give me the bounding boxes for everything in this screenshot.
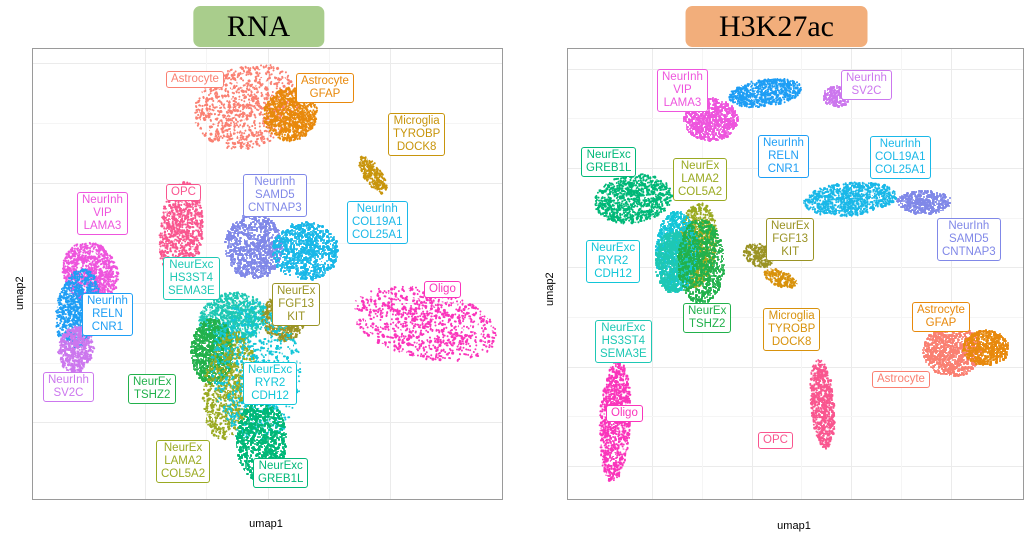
cluster-label-line: NeurInh: [846, 72, 887, 85]
cluster-label-line: NeurInh: [82, 194, 123, 207]
cluster-label-line: NeurExc: [248, 364, 292, 377]
cluster-label-neurexc-ryr2-cdh12: NeurExcRYR2CDH12: [243, 362, 297, 405]
cluster-label-line: SAMD5: [248, 189, 302, 202]
cluster-points: [270, 220, 338, 280]
cluster-label-neurexc-hs3st4-sema3e: NeurExcHS3ST4SEMA3E: [595, 320, 652, 363]
cluster-label-line: TYROBP: [393, 128, 440, 141]
cluster-label-line: COL25A1: [352, 229, 403, 242]
cluster-points: [800, 177, 899, 219]
gridline-h: [568, 69, 1023, 70]
cluster-label-line: NeurEx: [133, 376, 171, 389]
cluster-label-neurinh-sv2c: NeurInhSV2C: [43, 372, 94, 402]
gridline-v: [652, 49, 653, 499]
cluster-label-line: LAMA2: [161, 455, 205, 468]
cluster-label-line: RELN: [87, 308, 128, 321]
gridline-v: [951, 49, 952, 499]
cluster-label-line: Astrocyte: [171, 73, 219, 86]
cluster-label-line: COL5A2: [161, 468, 205, 481]
cluster-label-neurinh-samd5-cntnap3: NeurInhSAMD5CNTNAP3: [937, 218, 1001, 261]
cluster-label-line: NeurInh: [763, 137, 804, 150]
cluster-label-line: SEMA3E: [168, 285, 215, 298]
cluster-label-line: CNR1: [763, 163, 804, 176]
cluster-points: [676, 217, 724, 305]
cluster-label-line: TSHZ2: [133, 389, 171, 402]
cluster-label-line: RYR2: [591, 255, 635, 268]
cluster-label-neurinh-col19a1-col25a1: NeurInhCOL19A1COL25A1: [347, 201, 408, 244]
cluster-label-line: TYROBP: [768, 323, 815, 336]
cluster-label-line: FGF13: [771, 233, 809, 246]
cluster-label-line: CDH12: [248, 390, 292, 403]
cluster-label-line: FGF13: [277, 298, 315, 311]
cluster-label-neurinh-reln-cnr1: NeurInhRELNCNR1: [82, 293, 133, 336]
cluster-label-opc: OPC: [166, 184, 201, 201]
cluster-label-neurexc-greb1l: NeurExcGREB1L: [581, 147, 636, 177]
cluster-label-line: CDH12: [591, 268, 635, 281]
cluster-label-line: NeurInh: [942, 220, 996, 233]
x-axis-title-h3k27ac: umap1: [777, 520, 811, 532]
cluster-label-neurex-fgf13-kit: NeurExFGF13KIT: [766, 218, 814, 261]
cluster-label-line: COL5A2: [678, 186, 722, 199]
cluster-label-microglia-tyrobp-dock8: MicrogliaTYROBPDOCK8: [388, 113, 445, 156]
cluster-label-oligo: Oligo: [606, 405, 643, 422]
cluster-label-line: SV2C: [48, 387, 89, 400]
cluster-label-line: CNTNAP3: [248, 202, 302, 215]
cluster-label-neurex-lama2-col5a2: NeurExLAMA2COL5A2: [673, 158, 727, 201]
cluster-label-neurinh-vip-lama3: NeurInhVIPLAMA3: [657, 69, 708, 112]
cluster-label-line: OPC: [171, 186, 196, 199]
cluster-label-neurexc-hs3st4-sema3e: NeurExcHS3ST4SEMA3E: [163, 257, 220, 300]
cluster-label-line: LAMA3: [82, 220, 123, 233]
cluster-label-astrocyte-gfap: AstrocyteGFAP: [912, 302, 970, 332]
cluster-label-line: COL19A1: [875, 151, 926, 164]
cluster-label-neurinh-sv2c: NeurInhSV2C: [841, 70, 892, 100]
cluster-label-neurexc-ryr2-cdh12: NeurExcRYR2CDH12: [586, 240, 640, 283]
cluster-label-astrocyte: Astrocyte: [872, 371, 930, 388]
gridline-v: [851, 49, 852, 499]
cluster-points: [895, 189, 951, 213]
cluster-label-line: VIP: [82, 207, 123, 220]
panel-rna: RNA -5051050-5 umap1 umap2 AstrocyteAstr…: [0, 0, 517, 540]
cluster-points: [961, 329, 1009, 365]
gridline-h: [568, 466, 1023, 467]
cluster-label-line: LAMA3: [662, 97, 703, 110]
cluster-label-line: NeurEx: [688, 305, 726, 318]
cluster-label-line: OPC: [763, 434, 788, 447]
cluster-label-line: NeurEx: [771, 220, 809, 233]
cluster-label-line: NeurExc: [600, 322, 647, 335]
cluster-label-neurex-tshz2: NeurExTSHZ2: [128, 374, 176, 404]
cluster-label-line: COL25A1: [875, 164, 926, 177]
gridline-minor: [901, 49, 902, 499]
cluster-label-neurex-tshz2: NeurExTSHZ2: [683, 303, 731, 333]
cluster-label-line: NeurEx: [161, 442, 205, 455]
panel-h3k27ac: H3K27ac -2.50.02.55.0630-3-6 umap1 umap2…: [518, 0, 1035, 540]
cluster-label-neurex-lama2-col5a2: NeurExLAMA2COL5A2: [156, 440, 210, 483]
cluster-label-neurexc-greb1l: NeurExcGREB1L: [253, 458, 308, 488]
cluster-label-line: DOCK8: [393, 141, 440, 154]
cluster-label-line: KIT: [277, 311, 315, 324]
cluster-label-line: Astrocyte: [917, 304, 965, 317]
panel-title-rna: RNA: [193, 6, 324, 47]
cluster-label-line: GFAP: [917, 317, 965, 330]
y-axis-title-rna: umap2: [14, 276, 26, 310]
gridline-minor: [568, 118, 1023, 119]
cluster-label-neurex-fgf13-kit: NeurExFGF13KIT: [272, 283, 320, 326]
cluster-points: [724, 73, 803, 111]
cluster-label-neurinh-samd5-cntnap3: NeurInhSAMD5CNTNAP3: [243, 174, 307, 217]
cluster-label-line: NeurInh: [87, 295, 128, 308]
cluster-label-oligo: Oligo: [424, 281, 461, 298]
cluster-label-line: SV2C: [846, 85, 887, 98]
cluster-label-line: HS3ST4: [168, 272, 215, 285]
cluster-label-line: Oligo: [429, 283, 456, 296]
cluster-label-line: NeurInh: [48, 374, 89, 387]
cluster-label-line: VIP: [662, 84, 703, 97]
cluster-label-line: COL19A1: [352, 216, 403, 229]
gridline-minor: [801, 49, 802, 499]
cluster-label-line: RELN: [763, 150, 804, 163]
cluster-label-line: NeurExc: [586, 149, 631, 162]
gridline-v: [752, 49, 753, 499]
cluster-points: [805, 356, 837, 450]
cluster-label-astrocyte: Astrocyte: [166, 71, 224, 88]
cluster-points: [342, 271, 503, 373]
cluster-label-line: KIT: [771, 246, 809, 259]
y-axis-title-h3k27ac: umap2: [544, 272, 556, 306]
cluster-label-line: TSHZ2: [688, 318, 726, 331]
cluster-label-line: NeurInh: [248, 176, 302, 189]
cluster-label-neurinh-col19a1-col25a1: NeurInhCOL19A1COL25A1: [870, 136, 931, 179]
cluster-label-line: Astrocyte: [301, 75, 349, 88]
cluster-label-line: CNTNAP3: [942, 246, 996, 259]
cluster-label-line: Astrocyte: [877, 373, 925, 386]
cluster-label-line: NeurExc: [258, 460, 303, 473]
cluster-label-neurinh-vip-lama3: NeurInhVIPLAMA3: [77, 192, 128, 235]
cluster-label-line: Oligo: [611, 407, 638, 420]
cluster-label-line: NeurEx: [277, 285, 315, 298]
cluster-label-line: NeurExc: [168, 259, 215, 272]
cluster-label-line: HS3ST4: [600, 335, 647, 348]
cluster-label-line: DOCK8: [768, 336, 815, 349]
cluster-label-line: LAMA2: [678, 173, 722, 186]
panel-title-h3k27ac: H3K27ac: [685, 6, 868, 47]
cluster-label-line: GREB1L: [258, 473, 303, 486]
cluster-label-line: NeurInh: [875, 138, 926, 151]
cluster-points: [353, 150, 393, 196]
cluster-label-line: SAMD5: [942, 233, 996, 246]
cluster-label-line: GREB1L: [586, 162, 631, 175]
x-axis-title-rna: umap1: [249, 518, 283, 530]
cluster-label-opc: OPC: [758, 432, 793, 449]
gridline-v: [145, 49, 146, 499]
cluster-label-line: SEMA3E: [600, 348, 647, 361]
gridline-minor: [329, 49, 330, 499]
cluster-label-line: NeurInh: [662, 71, 703, 84]
cluster-label-line: Microglia: [393, 115, 440, 128]
cluster-label-line: RYR2: [248, 377, 292, 390]
cluster-label-astrocyte-gfap: AstrocyteGFAP: [296, 73, 354, 103]
cluster-label-line: GFAP: [301, 88, 349, 101]
cluster-label-microglia-tyrobp-dock8: MicrogliaTYROBPDOCK8: [763, 308, 820, 351]
cluster-label-line: NeurInh: [352, 203, 403, 216]
cluster-label-line: Microglia: [768, 310, 815, 323]
cluster-label-line: NeurExc: [591, 242, 635, 255]
cluster-label-neurinh-reln-cnr1: NeurInhRELNCNR1: [758, 135, 809, 178]
cluster-label-line: NeurEx: [678, 160, 722, 173]
cluster-label-line: CNR1: [87, 321, 128, 334]
